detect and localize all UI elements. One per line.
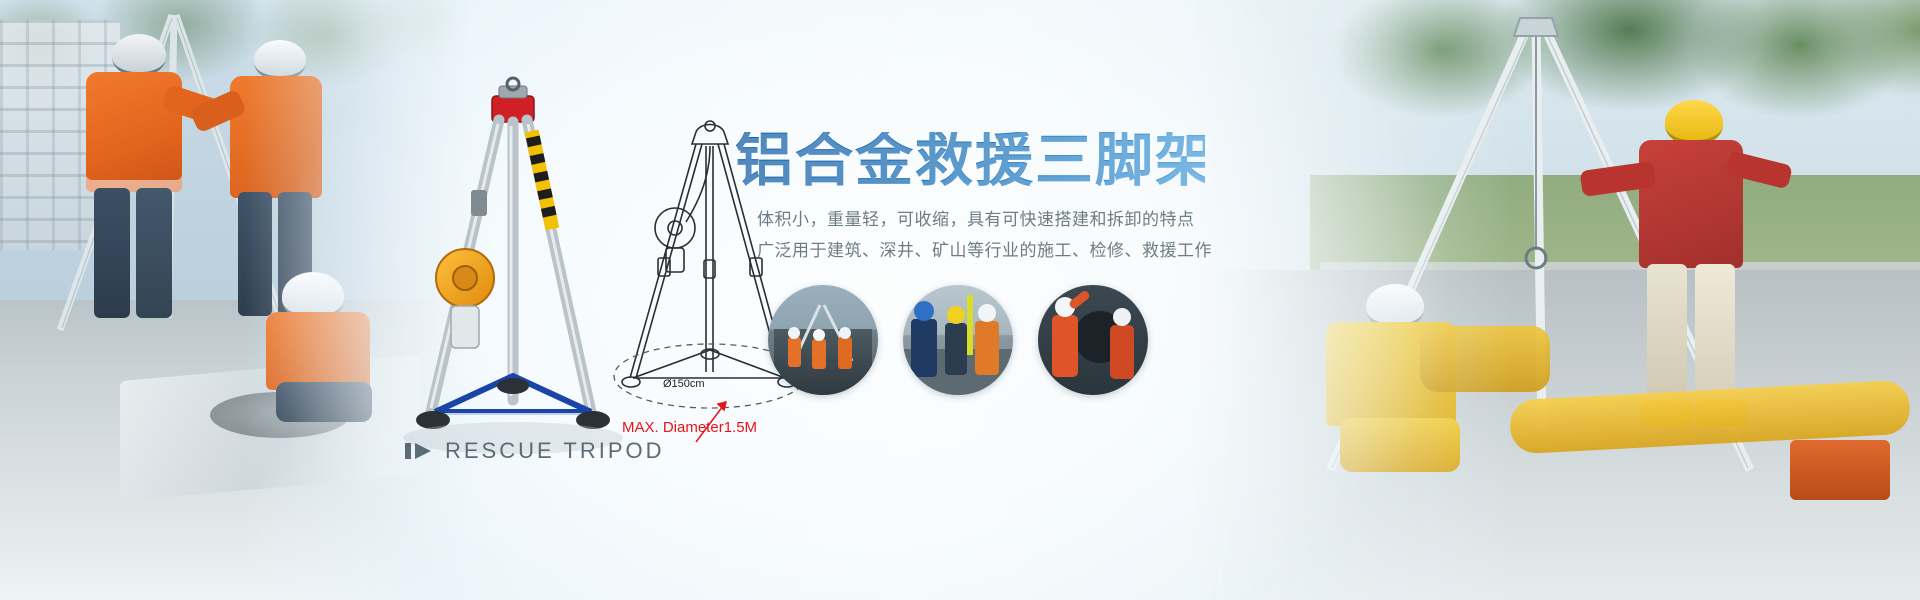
headline-block: 铝合金救援三脚架 体积小，重量轻，可收缩，具有可快速搭建和拆卸的特点 广泛用于建… [735, 132, 1205, 267]
thumb-3-scene [1038, 285, 1148, 395]
thumb-rescue-drill[interactable] [768, 285, 878, 395]
left-worker-1 [60, 30, 210, 350]
subtitle-block: 体积小，重量轻，可收缩，具有可快速搭建和拆卸的特点 广泛用于建筑、深井、矿山等行… [757, 204, 1205, 267]
right-hose-coil [1420, 326, 1550, 392]
left-worker-1-leg-right [136, 188, 172, 318]
left-worker-1-leg-left [94, 188, 130, 318]
page-title: 铝合金救援三脚架 [735, 132, 1205, 190]
max-diameter-note: MAX. Diameter1.5M [622, 419, 757, 436]
right-photo-montage [1190, 0, 1920, 600]
left-worker-2-jacket [230, 76, 322, 198]
right-worker-standing [1595, 100, 1785, 430]
play-marker-icon [405, 441, 435, 461]
right-crouch-legs [1340, 418, 1460, 472]
right-worker-helmet [1665, 100, 1723, 145]
thumb-site-inspection[interactable] [903, 285, 1013, 395]
subtitle-line-1: 体积小，重量轻，可收缩，具有可快速搭建和拆卸的特点 [757, 204, 1205, 235]
right-equipment-case [1790, 440, 1890, 500]
thumb-2-scene [903, 285, 1013, 395]
left-worker-3 [258, 250, 408, 450]
left-worker-3-jacket [266, 312, 370, 390]
left-worker-1-helmet [112, 34, 166, 76]
diameter-label: Ø150cm [663, 378, 705, 390]
right-worker-jacket [1639, 140, 1743, 268]
thumbnail-row [768, 285, 1168, 400]
right-worker-crouching [1270, 270, 1530, 520]
left-worker-3-legs [276, 382, 372, 422]
thumb-confined-space[interactable] [1038, 285, 1148, 395]
subtitle-line-2: 广泛用于建筑、深井、矿山等行业的施工、检修、救援工作 [757, 235, 1205, 266]
product-banner: RESCUE TRIPOD [0, 0, 1920, 600]
left-worker-2-helmet [254, 40, 306, 80]
thumb-1-scene [768, 285, 878, 395]
